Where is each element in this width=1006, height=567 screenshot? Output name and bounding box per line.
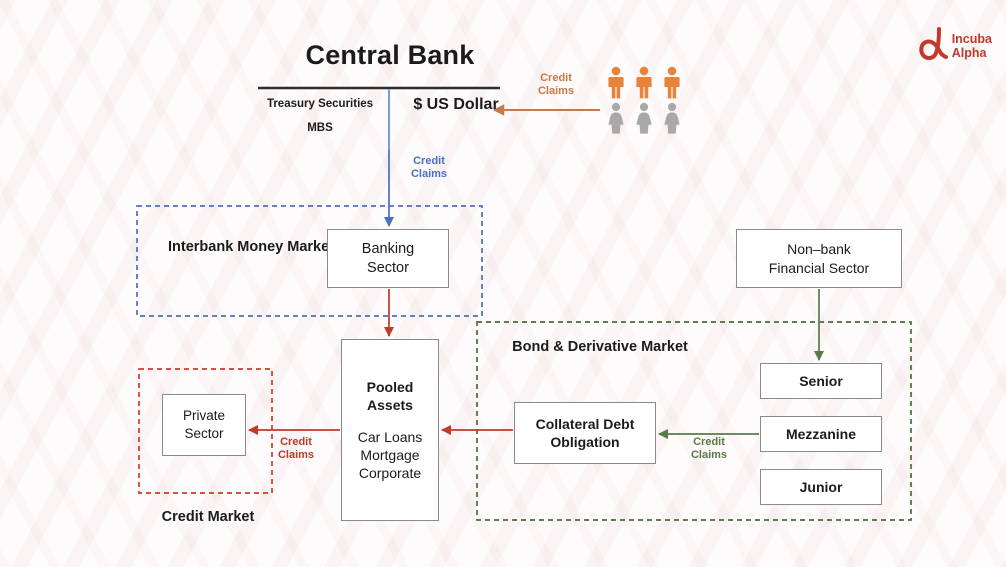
households-row-female bbox=[606, 102, 682, 134]
node-banking-sector[interactable]: Banking Sector bbox=[327, 229, 449, 288]
person-female-icon bbox=[662, 102, 682, 134]
region-label-bond-derivative-market: Bond & Derivative Market bbox=[495, 338, 705, 357]
region-label-credit-market: Credit Market bbox=[138, 508, 278, 527]
node-pooled-assets[interactable]: Pooled Assets Car Loans Mortgage Corpora… bbox=[341, 339, 439, 521]
person-female-icon bbox=[634, 102, 654, 134]
central-bank-title: Central Bank bbox=[280, 40, 500, 71]
asset-mbs: MBS bbox=[307, 122, 333, 134]
person-male-icon bbox=[606, 66, 626, 100]
logo-wordmark: Incuba Alpha bbox=[952, 32, 992, 60]
households-pictogram-group bbox=[606, 66, 682, 134]
alpha-mark-icon bbox=[918, 26, 948, 65]
label-credit-claims-private-sector: Credit Claims bbox=[272, 436, 320, 463]
region-label-interbank-money-market: Interbank Money Market bbox=[160, 238, 342, 257]
node-tranche-junior[interactable]: Junior bbox=[760, 469, 882, 505]
person-male-icon bbox=[662, 66, 682, 100]
label-credit-claims-households: Credit Claims bbox=[527, 72, 585, 99]
pooled-assets-items: Car Loans Mortgage Corporate bbox=[358, 428, 423, 483]
node-non-bank-financial-sector[interactable]: Non–bank Financial Sector bbox=[736, 229, 902, 288]
central-bank-assets: Treasury Securities MBS bbox=[256, 92, 384, 140]
node-collateral-debt-obligation[interactable]: Collateral Debt Obligation bbox=[514, 402, 656, 464]
person-female-icon bbox=[606, 102, 626, 134]
node-tranche-senior[interactable]: Senior bbox=[760, 363, 882, 399]
households-row-male bbox=[606, 66, 682, 100]
asset-treasury-securities: Treasury Securities bbox=[267, 98, 373, 110]
label-credit-claims-centralbank: Credit Claims bbox=[400, 155, 458, 182]
node-tranche-mezzanine[interactable]: Mezzanine bbox=[760, 416, 882, 452]
person-male-icon bbox=[634, 66, 654, 100]
logo-line-2: Alpha bbox=[952, 46, 992, 60]
label-credit-claims-tranches: Credit Claims bbox=[681, 436, 737, 463]
central-bank-liabilities: $ US Dollar bbox=[396, 96, 516, 114]
pooled-assets-heading: Pooled Assets bbox=[367, 378, 414, 414]
logo-line-1: Incuba bbox=[952, 32, 992, 46]
diagram-canvas: Incuba Alpha Central Bank Treasury Secur… bbox=[0, 0, 1006, 567]
incuba-alpha-logo: Incuba Alpha bbox=[918, 26, 992, 65]
node-private-sector[interactable]: Private Sector bbox=[162, 394, 246, 456]
